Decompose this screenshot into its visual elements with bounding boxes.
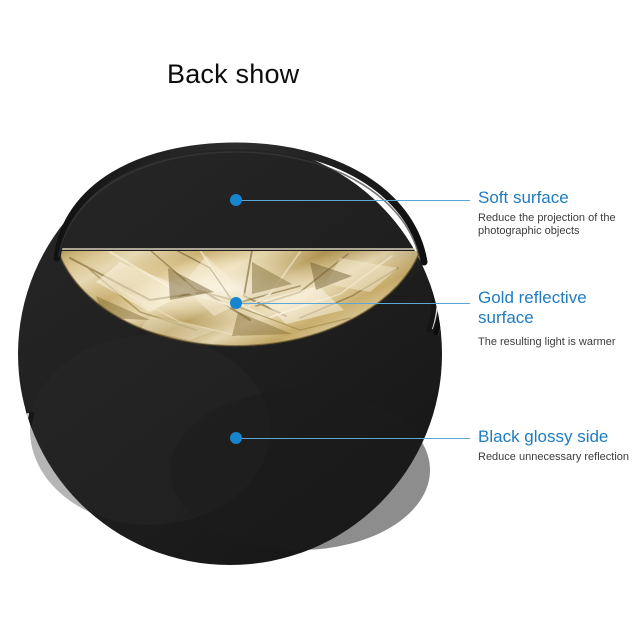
callout-line-black bbox=[240, 438, 470, 439]
annotation-title-soft: Soft surface bbox=[478, 188, 638, 208]
callout-dot-gold[interactable] bbox=[230, 297, 242, 309]
callout-line-soft bbox=[240, 200, 470, 201]
annotation-gold-reflective-surface: Gold reflective surface The resulting li… bbox=[478, 288, 638, 349]
annotation-soft-surface: Soft surface Reduce the projection of th… bbox=[478, 188, 638, 238]
callout-dot-black[interactable] bbox=[230, 432, 242, 444]
callout-line-gold bbox=[240, 303, 470, 304]
annotation-desc-soft: Reduce the projection of the photographi… bbox=[478, 212, 638, 238]
annotation-desc-gold: The resulting light is warmer bbox=[478, 336, 638, 349]
annotation-title-black: Black glossy side bbox=[478, 427, 638, 447]
annotation-title-gold: Gold reflective surface bbox=[478, 288, 638, 328]
annotation-desc-black: Reduce unnecessary reflection bbox=[478, 451, 638, 464]
annotation-black-glossy-side: Black glossy side Reduce unnecessary ref… bbox=[478, 427, 638, 464]
infographic-canvas: Back show bbox=[0, 0, 640, 640]
callout-dot-soft[interactable] bbox=[230, 194, 242, 206]
